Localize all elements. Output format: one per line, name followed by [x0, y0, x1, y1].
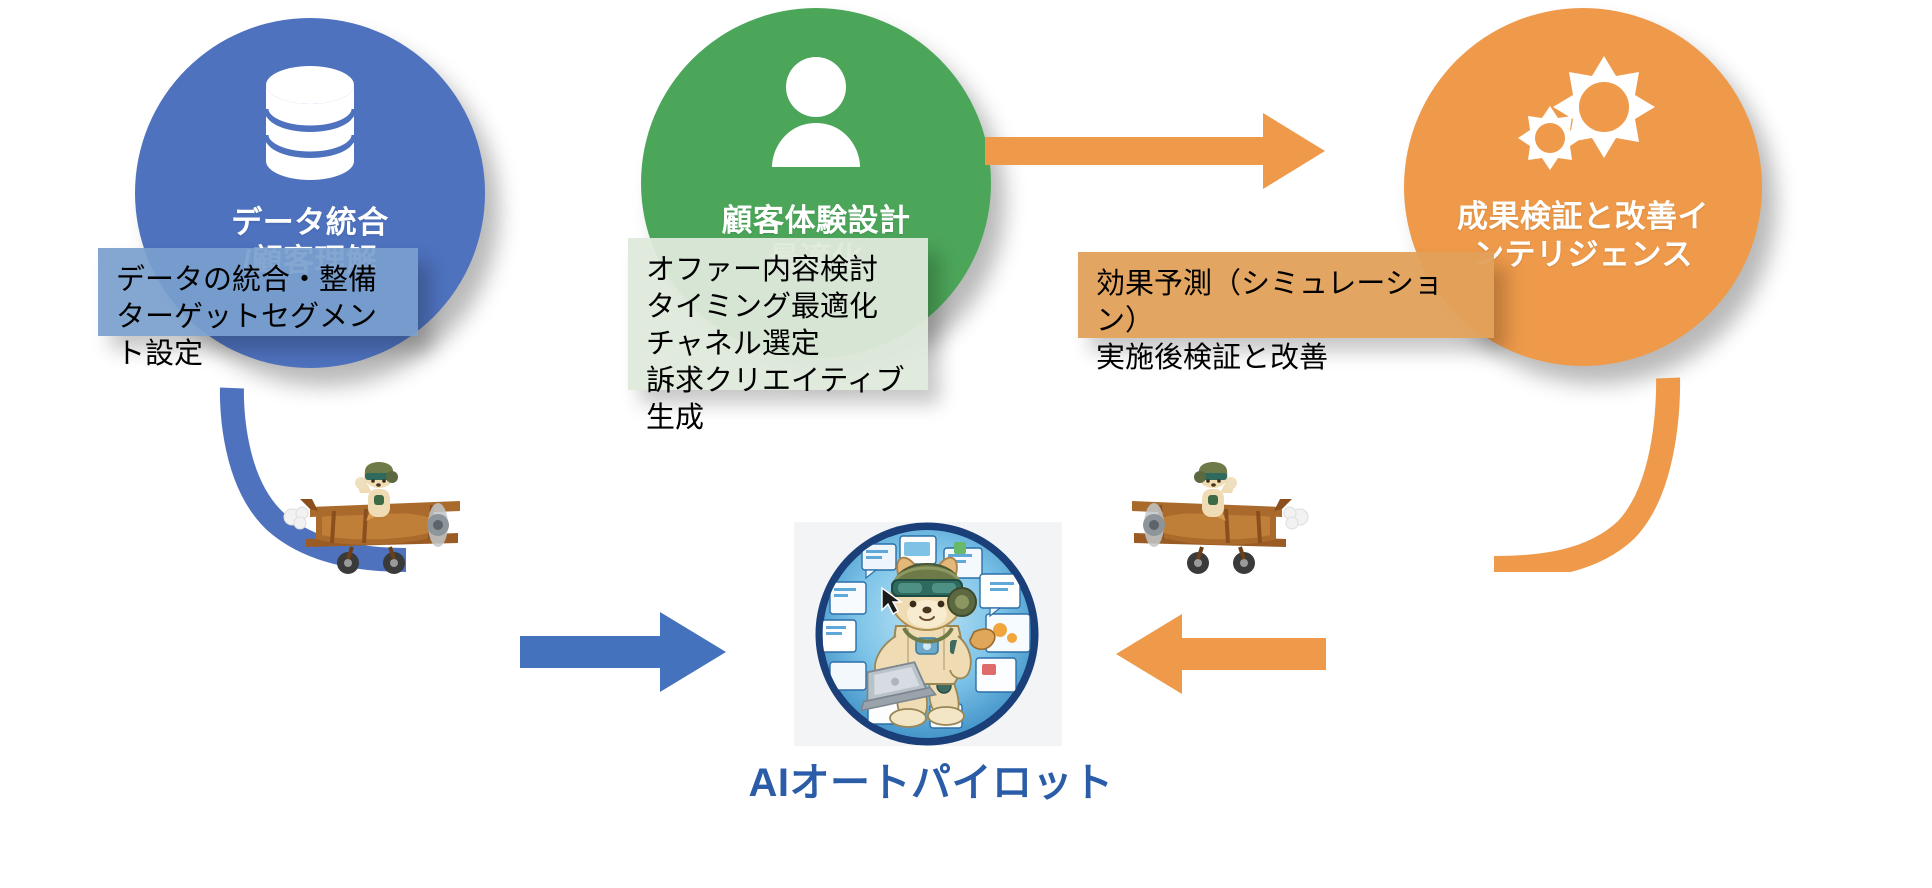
arrow-green-to-orange: [985, 105, 1345, 200]
arrow-plane-left-to-center: [520, 610, 730, 694]
database-icon: [256, 48, 364, 198]
caption-data-integration: データの統合・整備 ターゲットセグメント設定: [98, 248, 418, 336]
plane-right-icon: [1122, 455, 1310, 575]
caption-customer-experience: オファー内容検討 タイミング最適化 チャネル選定 訴求クリエイティブ生成: [628, 238, 928, 390]
plane-left-icon: [282, 455, 470, 575]
sun-gears-icon: [1508, 38, 1658, 188]
caption-outcome-intelligence: 効果予測（シミュレーション） 実施後検証と改善: [1078, 252, 1494, 338]
ai-autopilot-illustration: [804, 522, 1050, 746]
node-title-outcome-intelligence: 成果検証と改善イ ンテリジェンス: [1457, 198, 1709, 274]
arrow-plane-right-to-center: [1110, 612, 1326, 696]
diagram-canvas: データ統合 /顧客理解 データの統合・整備 ターゲットセグメント設定 顧客体験設…: [0, 0, 1932, 888]
ai-autopilot-image[interactable]: [794, 522, 1062, 746]
ai-autopilot-label: AIオートパイロット: [716, 750, 1146, 808]
elbow-outcome-to-plane-right: [1480, 372, 1690, 572]
person-icon: [762, 38, 870, 188]
